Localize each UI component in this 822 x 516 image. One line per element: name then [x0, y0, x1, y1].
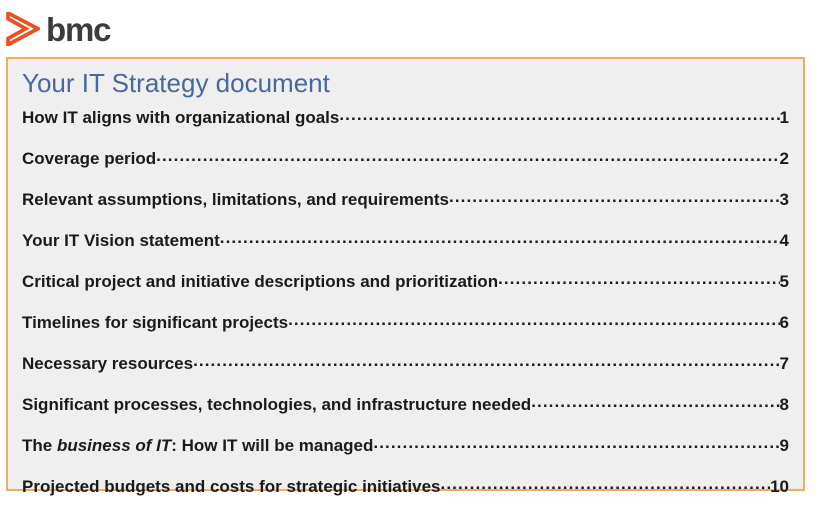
dot-leader — [441, 475, 771, 492]
bmc-chevron-logo-icon — [6, 12, 40, 46]
toc-row[interactable]: The business of IT: How IT will be manag… — [22, 434, 789, 475]
toc-label-post: : How IT will be managed — [171, 436, 373, 455]
toc-label-pre: The — [22, 436, 57, 455]
toc-label: Significant processes, technologies, and… — [22, 395, 531, 415]
toc-row[interactable]: Projected budgets and costs for strategi… — [22, 475, 789, 516]
dot-leader — [373, 434, 779, 451]
toc-page-number: 7 — [780, 354, 789, 374]
toc-row[interactable]: Coverage period 2 — [22, 147, 789, 188]
toc-page-number: 8 — [780, 395, 789, 415]
toc-row[interactable]: Timelines for significant projects 6 — [22, 311, 789, 352]
toc-label: Critical project and initiative descript… — [22, 272, 498, 292]
toc-label: How IT aligns with organizational goals — [22, 108, 339, 128]
toc-page-number: 5 — [780, 272, 789, 292]
toc-page-number: 4 — [780, 231, 789, 251]
dot-leader — [498, 270, 779, 287]
toc-row[interactable]: Your IT Vision statement 4 — [22, 229, 789, 270]
brand-header: bmc — [6, 8, 110, 50]
toc-label: Timelines for significant projects — [22, 313, 288, 333]
brand-wordmark: bmc — [46, 13, 110, 46]
toc-row[interactable]: Relevant assumptions, limitations, and r… — [22, 188, 789, 229]
dot-leader — [339, 106, 779, 123]
toc-row[interactable]: Critical project and initiative descript… — [22, 270, 789, 311]
page-title: Your IT Strategy document — [22, 69, 789, 99]
toc-label: Your IT Vision statement — [22, 231, 220, 251]
dot-leader — [220, 229, 780, 246]
toc-page-number: 3 — [780, 190, 789, 210]
dot-leader — [193, 352, 779, 369]
toc-label: Coverage period — [22, 149, 156, 169]
toc-page-number: 2 — [780, 149, 789, 169]
toc-page-number: 1 — [780, 108, 789, 128]
toc-row[interactable]: Necessary resources 7 — [22, 352, 789, 393]
toc-label: Relevant assumptions, limitations, and r… — [22, 190, 449, 210]
toc-page-number: 10 — [770, 477, 789, 497]
toc-page-number: 6 — [780, 313, 789, 333]
toc-callout-box: Your IT Strategy document How IT aligns … — [6, 57, 805, 491]
toc-row[interactable]: How IT aligns with organizational goals … — [22, 106, 789, 147]
toc-page-number: 9 — [780, 436, 789, 456]
toc-label: Projected budgets and costs for strategi… — [22, 477, 441, 497]
toc-label: Necessary resources — [22, 354, 193, 374]
dot-leader — [288, 311, 779, 328]
toc-label: The business of IT: How IT will be manag… — [22, 436, 373, 456]
dot-leader — [531, 393, 779, 410]
dot-leader — [156, 147, 779, 164]
dot-leader — [449, 188, 780, 205]
toc-list: How IT aligns with organizational goals … — [22, 106, 789, 516]
toc-row[interactable]: Significant processes, technologies, and… — [22, 393, 789, 434]
toc-label-italic: business of IT — [57, 436, 171, 455]
